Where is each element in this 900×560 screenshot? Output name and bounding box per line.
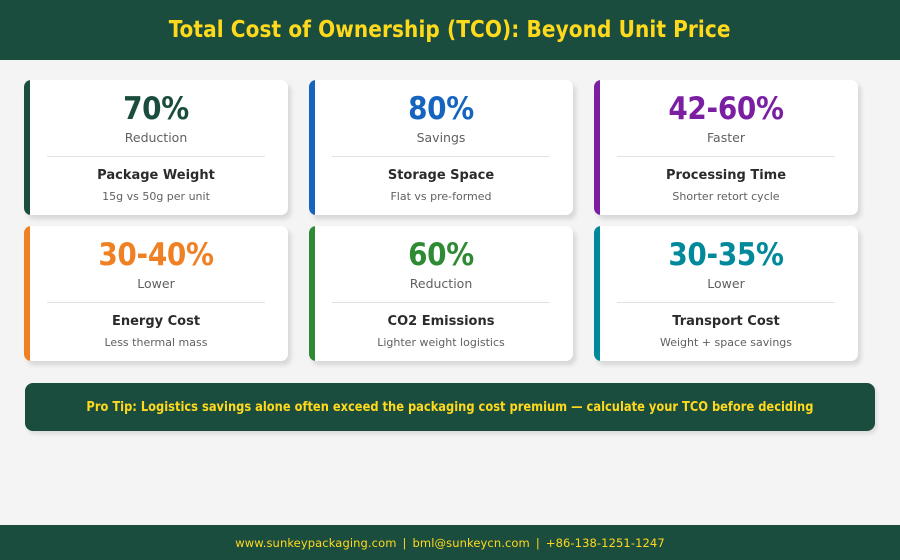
footer-separator-1: | [397,536,413,550]
metric-card-grid: 70%ReductionPackage Weight15g vs 50g per… [24,80,876,361]
card-note: 15g vs 50g per unit [102,190,210,203]
card-divider [47,302,265,303]
page-header: Total Cost of Ownership (TCO): Beyond Un… [0,0,900,60]
page-footer: www.sunkeypackaging.com|bml@sunkeycn.com… [0,525,900,560]
card-value: 30-35% [668,239,783,272]
pro-tip-banner: Pro Tip: Logistics savings alone often e… [25,383,875,431]
card-value: 60% [408,239,474,272]
card-value: 70% [123,93,189,126]
footer-phone[interactable]: +86-138-1251-1247 [546,536,665,550]
card-note: Weight + space savings [660,336,792,349]
metric-card: 30-40%LowerEnergy CostLess thermal mass [24,226,288,361]
card-divider [332,302,550,303]
pro-tip-text: Pro Tip: Logistics savings alone often e… [86,400,813,415]
card-unit: Savings [417,130,466,145]
card-divider [617,156,835,157]
card-unit: Reduction [410,276,473,291]
card-label: CO2 Emissions [388,314,495,330]
card-accent-bar [594,80,600,215]
card-unit: Lower [137,276,174,291]
card-note: Less thermal mass [105,336,208,349]
card-divider [47,156,265,157]
card-note: Flat vs pre-formed [390,190,491,203]
card-value: 80% [408,93,474,126]
card-label: Package Weight [97,168,215,184]
card-accent-bar [24,226,30,361]
card-accent-bar [24,80,30,215]
page-title: Total Cost of Ownership (TCO): Beyond Un… [169,17,731,43]
card-accent-bar [594,226,600,361]
card-label: Storage Space [388,168,494,184]
metric-card: 30-35%LowerTransport CostWeight + space … [594,226,858,361]
card-value: 42-60% [668,93,783,126]
card-label: Processing Time [666,168,786,184]
card-value: 30-40% [98,239,213,272]
metric-card: 42-60%FasterProcessing TimeShorter retor… [594,80,858,215]
footer-contact-line: www.sunkeypackaging.com|bml@sunkeycn.com… [235,536,665,550]
card-accent-bar [309,80,315,215]
card-accent-bar [309,226,315,361]
footer-website[interactable]: www.sunkeypackaging.com [235,536,396,550]
card-unit: Reduction [125,130,188,145]
metric-card: 80%SavingsStorage SpaceFlat vs pre-forme… [309,80,573,215]
card-unit: Faster [707,130,745,145]
footer-email[interactable]: bml@sunkeycn.com [413,536,530,550]
card-label: Transport Cost [672,314,779,330]
metric-card: 70%ReductionPackage Weight15g vs 50g per… [24,80,288,215]
card-label: Energy Cost [112,314,200,330]
card-note: Shorter retort cycle [672,190,779,203]
metric-card: 60%ReductionCO2 EmissionsLighter weight … [309,226,573,361]
card-divider [332,156,550,157]
card-divider [617,302,835,303]
card-note: Lighter weight logistics [377,336,505,349]
footer-separator-2: | [530,536,546,550]
card-unit: Lower [707,276,744,291]
